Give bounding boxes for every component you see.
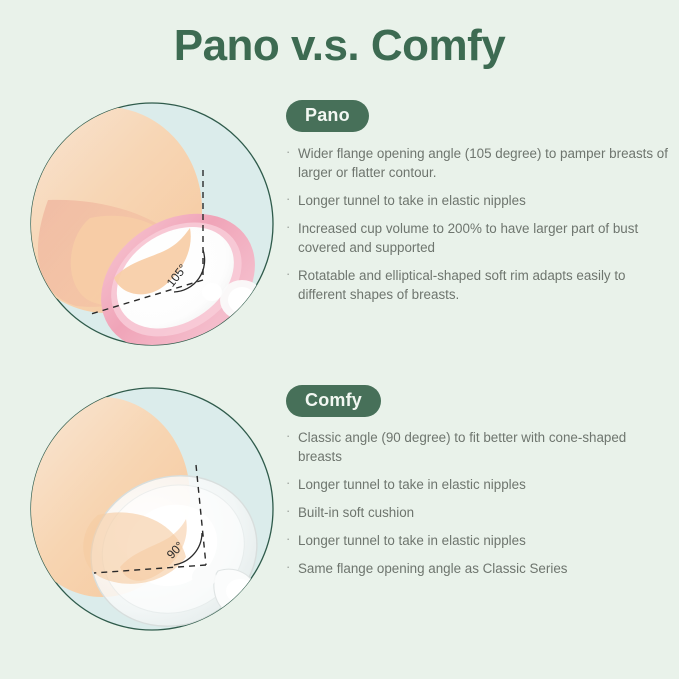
bullet-dot-icon: · [286,530,290,548]
list-item-text: Rotatable and elliptical-shaped soft rim… [298,268,626,302]
list-item-text: Increased cup volume to 200% to have lar… [298,221,638,255]
list-item: · Increased cup volume to 200% to have l… [286,219,671,257]
bullet-dot-icon: · [286,502,290,520]
bullet-dot-icon: · [286,143,290,161]
list-item: · Same flange opening angle as Classic S… [286,559,671,578]
bullet-dot-icon: · [286,558,290,576]
pano-badge-row: Pano [286,100,671,132]
comfy-illustration: 90° [28,385,276,633]
list-item: · Built-in soft cushion [286,503,671,522]
badge-comfy: Comfy [286,385,381,417]
pano-flange-diagram-svg: 105° [28,100,276,348]
list-item-text: Built-in soft cushion [298,505,414,520]
list-item: · Rotatable and elliptical-shaped soft r… [286,266,671,304]
list-item: · Longer tunnel to take in elastic nippl… [286,531,671,550]
list-item: · Classic angle (90 degree) to fit bette… [286,428,671,466]
bullet-dot-icon: · [286,218,290,236]
pano-bullet-list: · Wider flange opening angle (105 degree… [286,144,671,304]
list-item-text: Longer tunnel to take in elastic nipples [298,477,526,492]
comfy-flange-diagram-svg: 90° [28,385,276,633]
badge-pano: Pano [286,100,369,132]
list-item-text: Wider flange opening angle (105 degree) … [298,146,668,180]
list-item-text: Longer tunnel to take in elastic nipples [298,533,526,548]
bullet-dot-icon: · [286,265,290,283]
list-item: · Longer tunnel to take in elastic nippl… [286,475,671,494]
bullet-dot-icon: · [286,427,290,445]
list-item: · Wider flange opening angle (105 degree… [286,144,671,182]
list-item-text: Longer tunnel to take in elastic nipples [298,193,526,208]
bullet-dot-icon: · [286,474,290,492]
list-item-text: Classic angle (90 degree) to fit better … [298,430,626,464]
bullet-dot-icon: · [286,190,290,208]
pano-text-column: Pano · Wider flange opening angle (105 d… [286,100,671,313]
pano-illustration: 105° [28,100,276,348]
comfy-text-column: Comfy · Classic angle (90 degree) to fit… [286,385,671,587]
list-item: · Longer tunnel to take in elastic nippl… [286,191,671,210]
list-item-text: Same flange opening angle as Classic Ser… [298,561,567,576]
page-title: Pano v.s. Comfy [0,22,679,70]
comfy-badge-row: Comfy [286,385,671,417]
comfy-bullet-list: · Classic angle (90 degree) to fit bette… [286,428,671,578]
